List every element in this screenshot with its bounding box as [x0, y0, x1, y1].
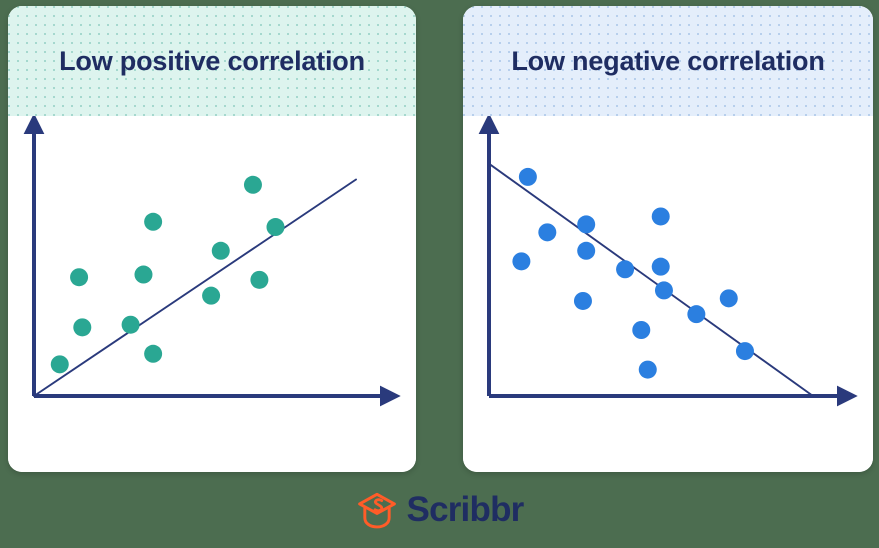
data-point: [720, 289, 738, 307]
data-point: [577, 242, 595, 260]
scatter-chart-svg-low-negative: [463, 116, 873, 472]
trend-line: [489, 164, 813, 396]
card-header-low-negative: Low negative correlation: [463, 6, 873, 116]
data-point: [144, 213, 162, 231]
data-point: [736, 342, 754, 360]
scribbr-logo: Scribbr: [0, 482, 879, 538]
data-point: [687, 305, 705, 323]
data-point: [655, 281, 673, 299]
scatter-chart-svg-low-positive: [8, 116, 416, 472]
page-title-low-positive: Low positive correlation: [33, 44, 391, 79]
data-point: [134, 266, 152, 284]
data-point: [632, 321, 650, 339]
graduation-cap-icon: [356, 490, 398, 530]
data-point: [519, 168, 537, 186]
data-point: [70, 268, 88, 286]
page-title-low-negative: Low negative correlation: [485, 44, 850, 79]
data-point: [574, 292, 592, 310]
data-point: [73, 318, 91, 336]
scatter-plot-low-positive: [8, 116, 416, 472]
scatter-plot-low-negative: [463, 116, 873, 472]
data-point: [616, 260, 634, 278]
trend-line: [34, 180, 356, 396]
data-point: [639, 361, 657, 379]
data-point: [202, 287, 220, 305]
card-header-low-positive: Low positive correlation: [8, 6, 416, 116]
brand-name-text: Scribbr: [407, 492, 524, 527]
data-point: [512, 252, 530, 270]
data-point: [244, 176, 262, 194]
data-point: [212, 242, 230, 260]
data-point: [267, 218, 285, 236]
data-point: [250, 271, 268, 289]
data-point: [577, 215, 595, 233]
data-point: [122, 316, 140, 334]
data-point: [652, 207, 670, 225]
data-point: [144, 345, 162, 363]
card-low-positive-correlation: Low positive correlation: [8, 6, 416, 472]
illustration-canvas: Low positive correlation Low negative co…: [0, 0, 879, 548]
data-point: [538, 223, 556, 241]
data-point: [51, 355, 69, 373]
data-point: [652, 258, 670, 276]
card-low-negative-correlation: Low negative correlation: [463, 6, 873, 472]
